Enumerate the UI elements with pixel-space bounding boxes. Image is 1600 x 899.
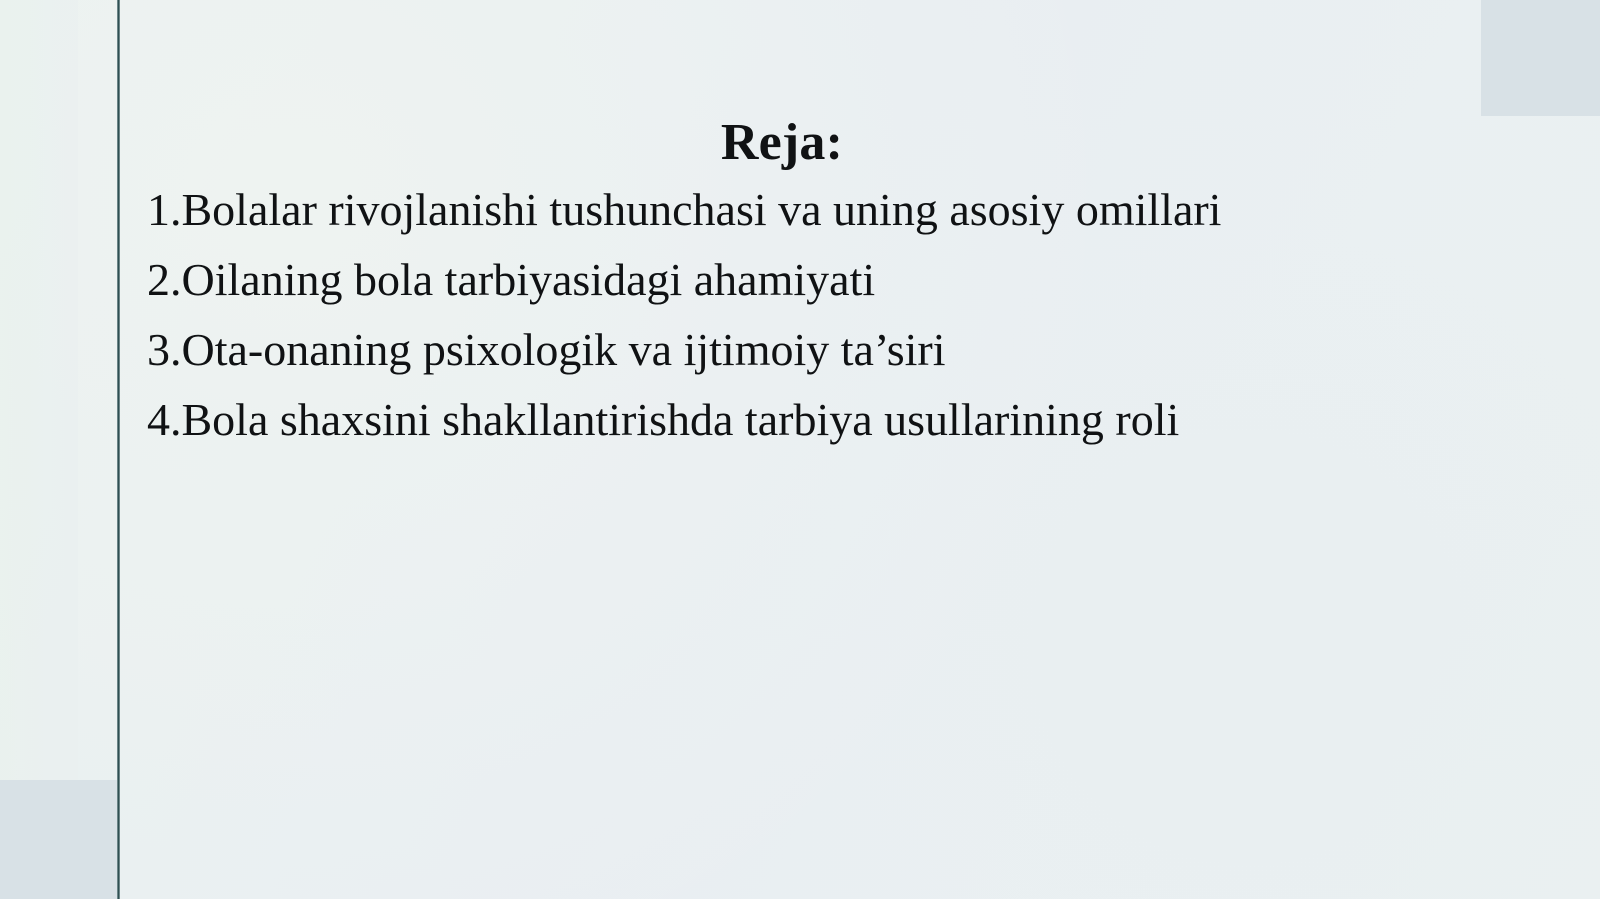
slide-content: Reja: 1.Bolalar rivojlanishi tushunchasi…: [147, 112, 1417, 455]
presentation-slide: Reja: 1.Bolalar rivojlanishi tushunchasi…: [0, 0, 1600, 899]
outline-item-3: 3.Ota-onaning psixologik va ijtimoiy ta’…: [147, 315, 1417, 385]
outline-item-2: 2.Oilaning bola tarbiyasidagi ahamiyati: [147, 245, 1417, 315]
outline-list: 1.Bolalar rivojlanishi tushunchasi va un…: [147, 175, 1417, 455]
outline-item-4: 4.Bola shaxsini shakllantirishda tarbiya…: [147, 385, 1417, 455]
slide-title: Reja:: [147, 112, 1417, 173]
decorative-block-bottom-left: [0, 780, 119, 899]
left-accent-band: [0, 0, 78, 899]
outline-item-1: 1.Bolalar rivojlanishi tushunchasi va un…: [147, 175, 1417, 245]
vertical-divider-rule: [117, 0, 120, 899]
decorative-block-top-right: [1481, 0, 1600, 116]
